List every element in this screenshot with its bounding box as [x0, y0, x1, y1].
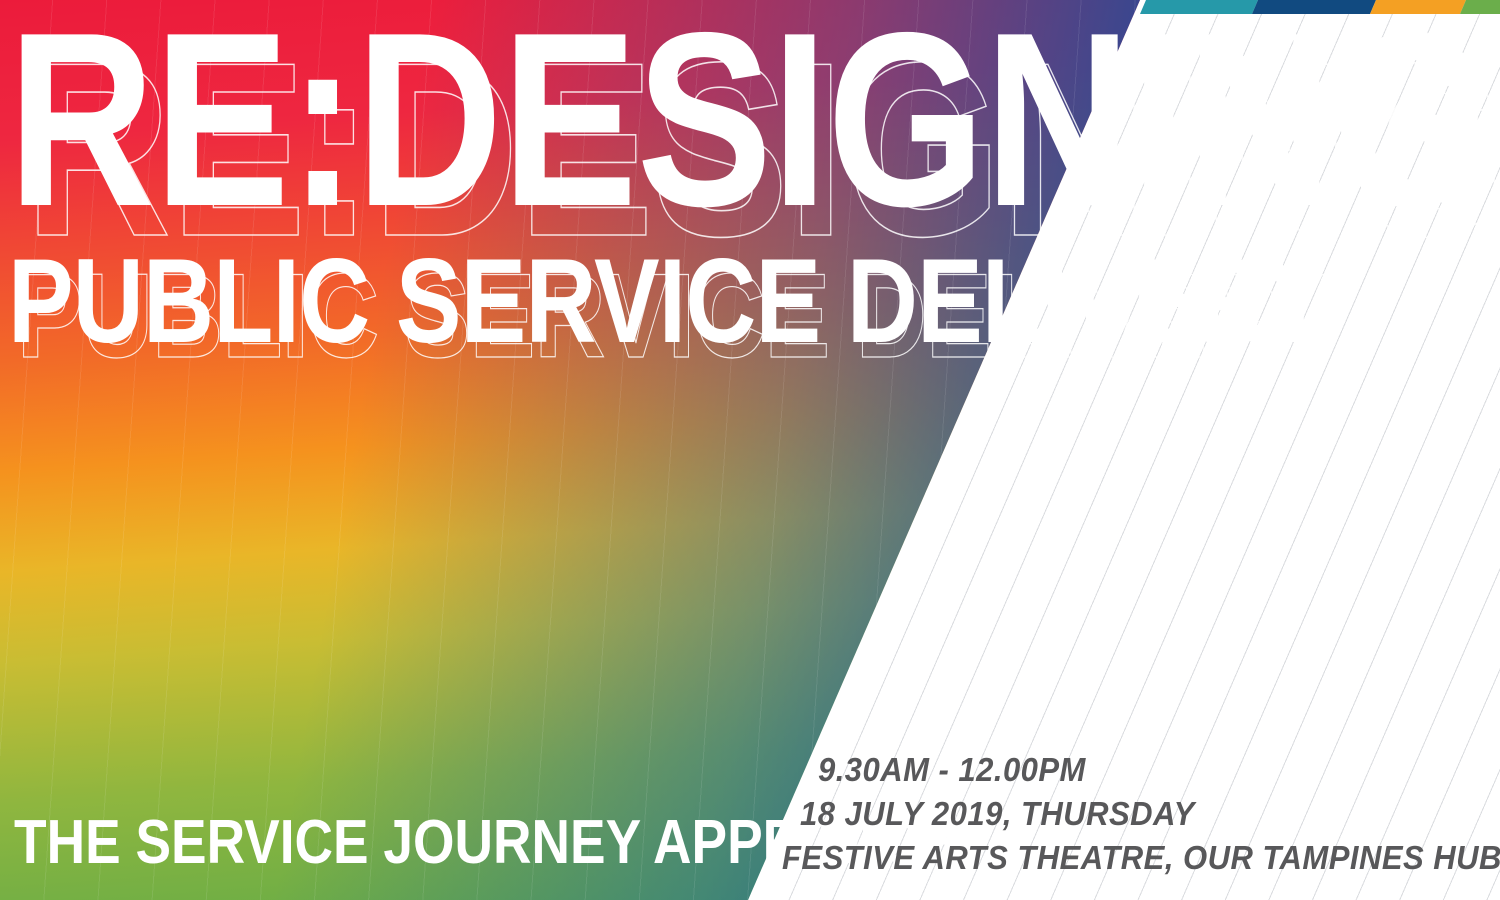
headline-line-2-text: PUBLIC SERVICE DELIVERY: [8, 234, 1329, 368]
headline-line-1: RE:DESIGNING RE:DESIGNING: [8, 8, 926, 240]
event-date: 18 JULY 2019, THURSDAY: [800, 792, 1441, 836]
headline-line-1-text: RE:DESIGNING: [8, 0, 1490, 258]
poster-canvas: RE:DESIGNING RE:DESIGNING PUBLIC SERVICE…: [0, 0, 1500, 900]
headline-line-2: PUBLIC SERVICE DELIVERY PUBLIC SERVICE D…: [8, 246, 926, 358]
event-time: 9.30AM - 12.00PM: [818, 748, 1442, 792]
headline-block: RE:DESIGNING RE:DESIGNING PUBLIC SERVICE…: [8, 8, 1128, 358]
event-details: 9.30AM - 12.00PM 18 JULY 2019, THURSDAY …: [782, 748, 1482, 880]
event-venue: FESTIVE ARTS THEATRE, OUR TAMPINES HUB: [782, 836, 1440, 880]
